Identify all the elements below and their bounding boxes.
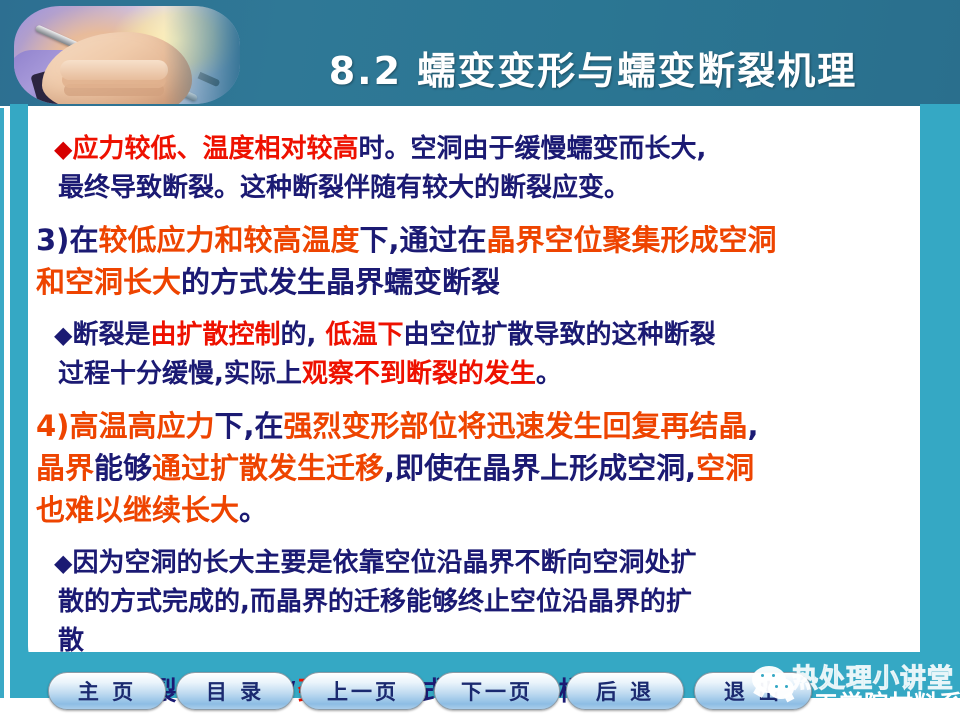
text-run: 能够 xyxy=(94,451,152,485)
text-run: 在 xyxy=(69,223,98,257)
diamond-bullet-icon: ◆ xyxy=(54,135,72,163)
bullet-line: ◆断裂是由扩散控制的, 低温下由空位扩散导致的这种断裂 xyxy=(54,322,715,348)
text-run: 由空位扩散导致的这种断裂 xyxy=(403,320,715,350)
slide-body: ◆应力较低、温度相对较高时。空洞由于缓慢蠕变而长大,最终导致断裂。这种断裂伴随有… xyxy=(36,118,920,638)
text-run: 空洞 xyxy=(696,451,754,485)
numbered-line: 和空洞长大的方式发生晶界蠕变断裂 xyxy=(36,268,500,297)
list-number: 4) xyxy=(36,409,69,443)
text-run: 的方式发生晶界蠕变断裂 xyxy=(181,265,500,299)
text-run: 。 xyxy=(239,493,268,527)
text-run: 下,通过在 xyxy=(359,223,486,257)
text-run: 晶界空位聚集形成空洞 xyxy=(487,223,777,257)
text-run: 晶界 xyxy=(36,451,94,485)
list-number: 3) xyxy=(36,223,69,257)
text-run: , xyxy=(748,409,759,443)
text-run: 最终导致断裂。这种断裂伴随有较大的断裂应变。 xyxy=(58,173,630,203)
slide-header: 8.2 蠕变变形与蠕变断裂机理 xyxy=(0,0,960,106)
diamond-bullet-icon: ◆ xyxy=(54,321,72,349)
numbered-line: 晶界能够通过扩散发生迁移,即使在晶界上形成空洞,空洞 xyxy=(36,454,754,483)
text-run: 散的方式完成的,而晶界的迁移能够终止空位沿晶界的扩 xyxy=(58,587,692,617)
text-run: 高温高应力 xyxy=(69,409,214,443)
frame-left-bar xyxy=(10,104,28,664)
nav-button-next-page[interactable]: 下一页 xyxy=(434,672,560,710)
text-run: 通过扩散发生迁移 xyxy=(152,451,384,485)
nav-button-home[interactable]: 主 页 xyxy=(48,672,166,710)
nav-button-label: 下一页 xyxy=(461,676,533,706)
text-run: 也难以继续长大 xyxy=(36,493,239,527)
text-run: 下,在 xyxy=(214,409,283,443)
slide-root: 8.2 蠕变变形与蠕变断裂机理 ◆应力较低、温度相对较高时。空洞由于缓慢蠕变而长… xyxy=(0,0,960,720)
text-run: 由扩散控制 xyxy=(150,320,280,350)
watermark: 热处理小讲堂 工学院材料系 xyxy=(752,658,952,716)
text-run: 过程十分缓慢,实际上 xyxy=(58,359,302,389)
frame-right-bar xyxy=(920,104,960,698)
photo-fade-overlay xyxy=(164,6,240,104)
page-title: 8.2 蠕变变形与蠕变断裂机理 xyxy=(248,40,938,95)
nav-button-label: 上一页 xyxy=(327,676,399,706)
text-run: ,即使在晶界上形成空洞, xyxy=(384,451,696,485)
bullet-line: 最终导致断裂。这种断裂伴随有较大的断裂应变。 xyxy=(58,175,630,201)
nav-button-label: 目 录 xyxy=(206,676,264,706)
wechat-icon xyxy=(752,666,794,700)
nav-button-label: 主 页 xyxy=(78,676,136,706)
text-run: 断裂是 xyxy=(72,320,150,350)
photo-fingers xyxy=(60,60,168,80)
nav-button-contents[interactable]: 目 录 xyxy=(176,672,294,710)
nav-button-back[interactable]: 后 退 xyxy=(566,672,684,710)
text-run: 和空洞长大 xyxy=(36,265,181,299)
numbered-line: 4)高温高应力下,在强烈变形部位将迅速发生回复再结晶, xyxy=(36,412,759,441)
text-run: 观察不到断裂的发生 xyxy=(302,359,536,389)
numbered-line: 也难以继续长大。 xyxy=(36,496,268,525)
text-run: 因为空洞的长大主要是依靠空位沿晶界不断向空洞处扩 xyxy=(72,548,696,578)
hand-holding-pen-photo xyxy=(14,6,240,104)
text-run: 散 xyxy=(58,626,84,656)
text-run: 的, xyxy=(281,320,326,350)
diamond-bullet-icon: ◆ xyxy=(54,549,72,577)
text-run: 较低应力和较高温度 xyxy=(98,223,359,257)
bullet-line: 散 xyxy=(58,628,84,654)
outer-edge-rule xyxy=(0,108,4,720)
text-run: 时。空洞由于缓慢蠕变而长大, xyxy=(358,134,706,164)
bullet-line: ◆应力较低、温度相对较高时。空洞由于缓慢蠕变而长大, xyxy=(54,136,706,162)
text-run: 低温下 xyxy=(325,320,403,350)
text-run: 。 xyxy=(536,359,562,389)
nav-button-previous-page[interactable]: 上一页 xyxy=(300,672,426,710)
bullet-line: ◆因为空洞的长大主要是依靠空位沿晶界不断向空洞处扩 xyxy=(54,550,696,576)
watermark-department: 工学院材料系 xyxy=(814,684,960,719)
text-run: 强烈变形部位将迅速发生回复再结晶 xyxy=(283,409,747,443)
bullet-line: 过程十分缓慢,实际上观察不到断裂的发生。 xyxy=(58,361,562,387)
bullet-line: 散的方式完成的,而晶界的迁移能够终止空位沿晶界的扩 xyxy=(58,589,692,615)
nav-button-label: 后 退 xyxy=(596,676,654,706)
numbered-line: 3)在较低应力和较高温度下,通过在晶界空位聚集形成空洞 xyxy=(36,226,777,255)
text-run: 应力较低、温度相对较高 xyxy=(72,134,358,164)
